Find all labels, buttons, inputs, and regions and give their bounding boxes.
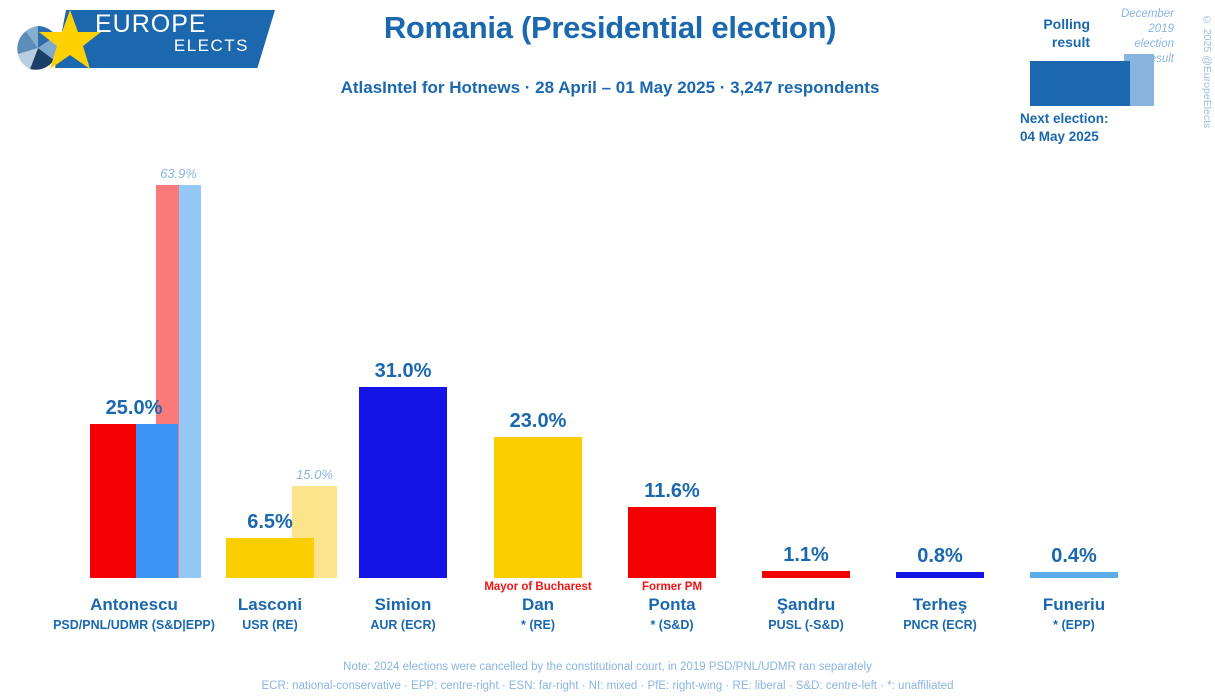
polling-result-bar [226, 538, 314, 578]
polling-result-bar-segment [628, 507, 716, 578]
polling-result-bar [1030, 572, 1118, 578]
polling-result-bar [762, 571, 850, 578]
candidate-note [990, 580, 1158, 594]
logo-wordmark: EUROPE ELECTS [95, 12, 255, 54]
chart-footnotes: Note: 2024 elections were cancelled by t… [0, 658, 1215, 696]
legend-label-election-line1: December 2019 [1121, 8, 1174, 35]
polling-result-value-label: 11.6% [622, 480, 722, 503]
polling-result-value-label: 23.0% [488, 410, 588, 433]
bar-group: 23.0% [494, 120, 622, 580]
polling-result-bar [896, 572, 984, 578]
bar-group: 1.1% [762, 120, 890, 580]
polling-result-bar [628, 507, 716, 578]
legend-label-polling: Polling result [1012, 16, 1090, 51]
polling-result-value-label: 6.5% [220, 511, 320, 534]
polling-result-bar-segment [226, 538, 314, 578]
legend-label-polling-line1: Polling [1043, 16, 1090, 32]
bar-group: 0.8% [896, 120, 1024, 580]
polling-result-bar-segment [90, 424, 136, 578]
polling-result-value-label: 1.1% [756, 544, 856, 567]
polling-result-bar-segment [494, 437, 582, 579]
copyright-notice: © 2025 @EuropeElects [1201, 14, 1213, 128]
polling-result-value-label: 25.0% [84, 397, 184, 420]
bar-group: 31.0% [359, 120, 487, 580]
legend-label-election-line2: election [1134, 38, 1174, 50]
x-axis-label-funeriu: Funeriu* (EPP) [990, 580, 1158, 634]
footnote-note: Note: 2024 elections were cancelled by t… [0, 658, 1215, 677]
bar-group: 11.6% [628, 120, 756, 580]
polling-result-bar-segment [359, 387, 447, 578]
polling-result-value-label: 31.0% [353, 360, 453, 383]
bar-chart: 63.9%25.0%15.0%6.5%31.0%23.0%11.6%1.1%0.… [0, 120, 1215, 580]
polling-result-bar-segment [896, 572, 984, 578]
candidate-party: * (EPP) [990, 616, 1158, 634]
candidate-name: Funeriu [990, 594, 1158, 616]
page-title: Romania (Presidential election) [280, 10, 940, 46]
logo-word-elects: ELECTS [95, 37, 255, 54]
polling-result-bar-segment [1030, 572, 1118, 578]
bar-group: 0.4% [1030, 120, 1158, 580]
polling-result-value-label: 0.4% [1024, 545, 1124, 568]
legend-label-polling-line2: result [1052, 34, 1090, 50]
previous-election-value-label: 15.0% [278, 467, 351, 482]
polling-result-bar [494, 437, 582, 579]
previous-election-value-label: 63.9% [142, 166, 215, 181]
bar-group: 63.9%25.0% [90, 120, 218, 580]
polling-result-bar [90, 424, 178, 578]
previous-election-bar-segment [179, 185, 202, 578]
europe-elects-logo: EUROPE ELECTS [0, 6, 275, 74]
logo-word-europe: EUROPE [95, 12, 255, 37]
footnote-legend-key: ECR: national-conservative · EPP: centre… [0, 677, 1215, 696]
x-axis-labels: AntonescuPSD/PNL/UDMR (S&D|EPP) LasconiU… [0, 580, 1215, 650]
polling-result-bar [359, 387, 447, 578]
bar-group: 15.0%6.5% [226, 120, 354, 580]
legend-swatch-polling [1030, 61, 1130, 106]
polling-result-bar-segment [762, 571, 850, 578]
page-subtitle: AtlasIntel for Hotnews · 28 April – 01 M… [280, 78, 940, 98]
star-icon [38, 8, 102, 72]
polling-result-value-label: 0.8% [890, 545, 990, 568]
polling-result-bar-segment [136, 424, 178, 578]
